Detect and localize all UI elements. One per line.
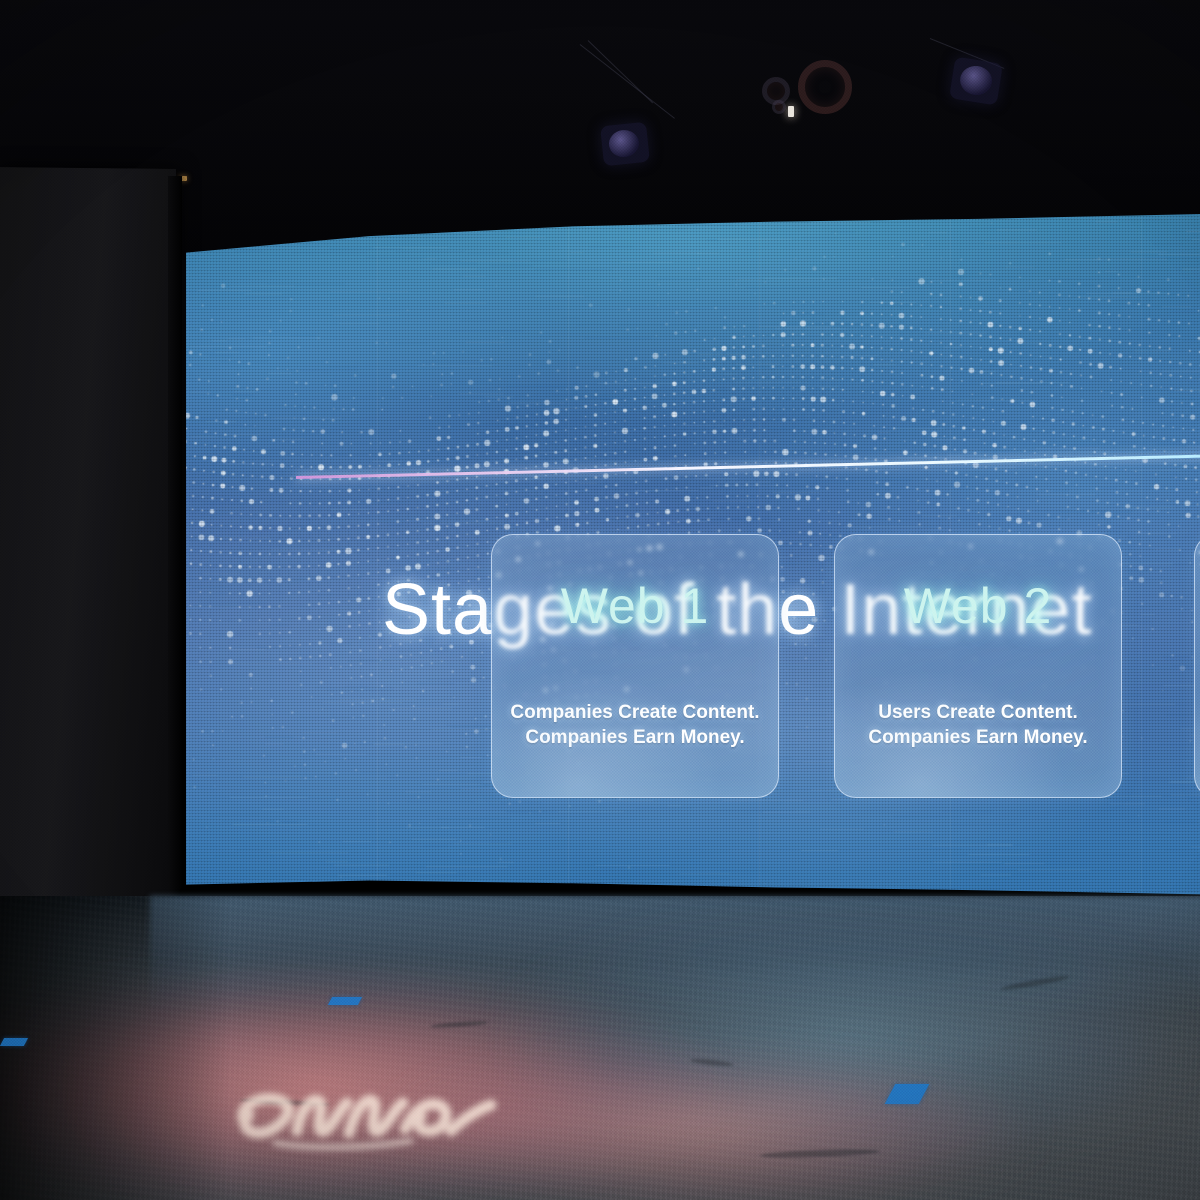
par-lens bbox=[608, 129, 641, 159]
stage-card-web3[interactable]: Web 3 Users Create Content. Users Earn M… bbox=[1194, 534, 1200, 798]
ceiling-indicator-light bbox=[788, 106, 794, 117]
stage-card-web1[interactable]: Web 1 Companies Create Content. Companie… bbox=[491, 534, 779, 798]
card-line: Companies Earn Money. bbox=[843, 725, 1113, 750]
stage-wall-edge bbox=[168, 176, 182, 946]
stage-par-light bbox=[949, 57, 1003, 106]
card-group: Web 1 Companies Create Content. Companie… bbox=[186, 214, 1200, 904]
card-title: Web 2 bbox=[835, 577, 1121, 635]
card-body: Users Create Content. Companies Earn Mon… bbox=[843, 700, 1113, 750]
floor-tape-mark bbox=[0, 1038, 28, 1046]
card-title: Web 1 bbox=[492, 577, 778, 635]
led-video-wall: Stages of the Internet Web 1 Companies C… bbox=[186, 214, 1200, 904]
floor-shadow-left bbox=[0, 896, 230, 1200]
stage-wall-flat bbox=[0, 167, 176, 959]
card-line: Users Create Content. bbox=[843, 700, 1113, 725]
stage-photo: Stages of the Internet Web 1 Companies C… bbox=[0, 0, 1200, 1200]
par-lens bbox=[958, 64, 994, 98]
ceiling-ring-light bbox=[772, 100, 786, 114]
card-body: Companies Create Content. Companies Earn… bbox=[500, 700, 770, 750]
floor-tape-mark bbox=[328, 997, 362, 1005]
stage-card-web2[interactable]: Web 2 Users Create Content. Companies Ea… bbox=[834, 534, 1122, 798]
slide-content: Stages of the Internet Web 1 Companies C… bbox=[186, 214, 1200, 904]
card-title: Web 3 bbox=[1195, 577, 1200, 635]
stage-par-light bbox=[600, 122, 650, 167]
projected-logo-gobo bbox=[215, 1075, 515, 1165]
ceiling-ring-light bbox=[798, 60, 852, 114]
card-line: Companies Earn Money. bbox=[500, 725, 770, 750]
card-line: Companies Create Content. bbox=[500, 700, 770, 725]
